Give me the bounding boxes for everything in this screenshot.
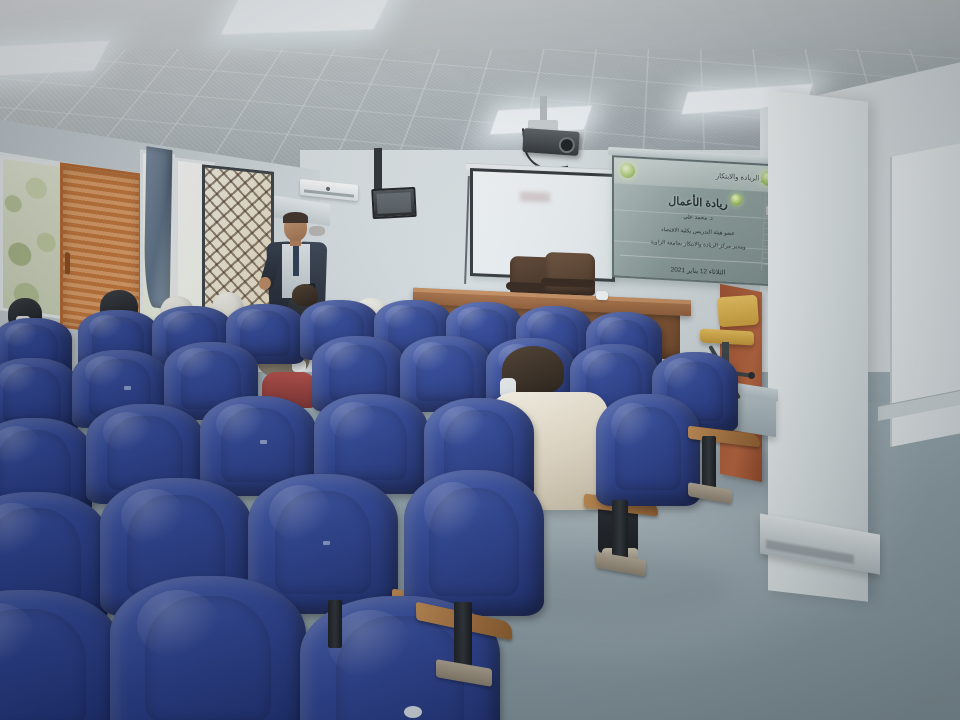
- monitor-bracket: [374, 148, 382, 190]
- auditorium-seat[interactable]: [0, 590, 120, 720]
- floor-object: [404, 706, 422, 718]
- window-frame: [0, 155, 66, 319]
- seat-pedestal: [328, 600, 342, 648]
- university-logo-icon: [620, 163, 635, 179]
- ceiling-projector: [522, 128, 580, 156]
- seat-pedestal: [454, 602, 472, 672]
- whiteboard-marks: [520, 191, 550, 202]
- small-white-object: [596, 291, 608, 301]
- ceiling-monitor: [371, 187, 417, 219]
- chair-back: [545, 252, 595, 296]
- hair: [283, 212, 308, 223]
- chair-caster: [748, 372, 755, 379]
- slide-subtitle-line: ومدير مركز الريادة والابتكار بجامعة الزا…: [650, 239, 745, 253]
- auditorium-seat[interactable]: [404, 470, 544, 616]
- blue-curtain[interactable]: [144, 146, 173, 310]
- seat-pedestal: [612, 500, 628, 562]
- slide-date: الثلاثاء 12 يناير 2021: [614, 262, 782, 279]
- face-shadow: [309, 226, 325, 236]
- projection-screen: مركز الريادة والابتكار ريادة الأعمال د. …: [612, 155, 784, 287]
- shutter-handle[interactable]: [65, 252, 70, 275]
- yellow-swivel-chair-back[interactable]: [717, 295, 759, 328]
- slide-subtitle-line: د. محمد علي: [683, 213, 712, 223]
- ac-led: [326, 187, 330, 191]
- slide-subtitle-line: عضو هيئة التدريس بكلية الاقتصاد: [661, 226, 735, 239]
- monitor-screen: [376, 192, 411, 214]
- seat-pedestal: [702, 436, 716, 492]
- auditorium-seat[interactable]: [110, 576, 306, 720]
- necktie: [293, 246, 299, 276]
- projector-lens-icon: [558, 137, 575, 154]
- slide-title: ريادة الأعمال: [668, 195, 727, 211]
- lecture-hall-photo: مركز الريادة والابتكار ريادة الأعمال د. …: [0, 0, 960, 720]
- ceiling-light-panel: [221, 0, 394, 35]
- auditorium-seat[interactable]: [596, 394, 700, 506]
- slide-body: ريادة الأعمال د. محمد علي عضو هيئة التدر…: [614, 183, 782, 262]
- window-left-outer: [0, 155, 66, 319]
